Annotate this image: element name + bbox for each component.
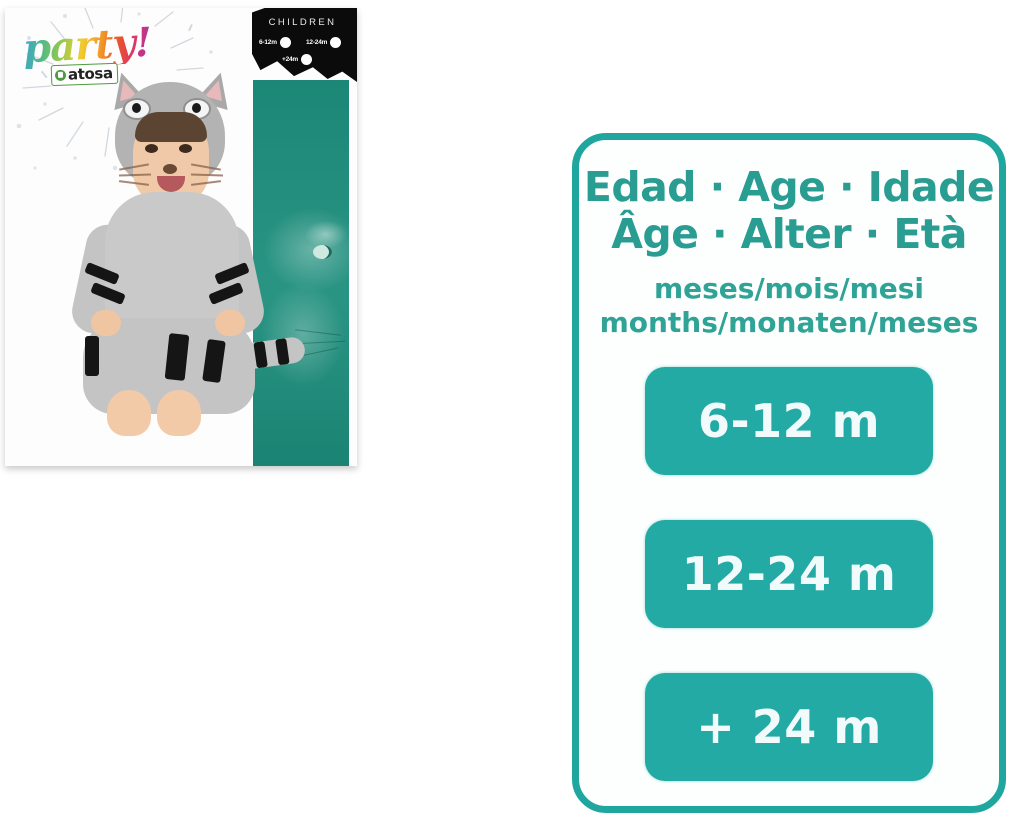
tail-stripe	[275, 338, 290, 365]
costume-stripe	[85, 336, 99, 376]
baby-foot-left	[107, 390, 151, 436]
age-panel-heading-line-1: Edad · Age · Idade	[584, 164, 994, 211]
age-option-list: 6-12 m 12-24 m + 24 m	[579, 367, 999, 781]
baby-eye-left	[145, 144, 158, 153]
age-option-6-12m[interactable]: 6-12 m	[645, 367, 933, 475]
brand-logo-party-text: party!	[22, 23, 152, 70]
badge-size-label: +24m	[282, 56, 298, 63]
badge-size-label: 6-12m	[259, 39, 277, 46]
painted-cat-nose	[163, 164, 177, 174]
baby-hand-right	[215, 310, 245, 336]
badge-size-option-6-12m: 6-12m	[259, 37, 291, 48]
badge-size-label: 12-24m	[306, 39, 327, 46]
age-panel-subheading-line-2: months/monaten/meses	[600, 306, 979, 340]
baby-hair	[135, 112, 207, 142]
badge-size-option-12-24m: 12-24m	[306, 37, 341, 48]
children-badge-title: CHILDREN	[252, 17, 353, 28]
badge-size-dot-icon	[330, 37, 341, 48]
baby-cat-costume-photo	[63, 72, 273, 454]
badge-size-dot-icon	[301, 54, 312, 65]
age-panel-subheading-line-1: meses/mois/mesi	[654, 272, 924, 306]
baby-foot-right	[157, 390, 201, 436]
product-package-image: party! atosa CHILDREN 6-12m 12-24m +24m	[5, 8, 357, 466]
age-size-panel: Edad · Age · Idade Âge · Alter · Età mes…	[572, 133, 1006, 813]
age-panel-heading-line-2: Âge · Alter · Età	[611, 211, 967, 258]
badge-size-dot-icon	[280, 37, 291, 48]
age-option-plus-24m[interactable]: + 24 m	[645, 673, 933, 781]
band-ghost-eye-decoration	[313, 245, 332, 259]
baby-hand-left	[91, 310, 121, 336]
tail-stripe	[253, 341, 268, 368]
badge-size-option-plus-24m: +24m	[282, 54, 312, 65]
band-ghost-whisker	[295, 329, 341, 336]
age-panel-content: Edad · Age · Idade Âge · Alter · Età mes…	[579, 140, 999, 806]
baby-eye-right	[179, 144, 192, 153]
age-option-12-24m[interactable]: 12-24 m	[645, 520, 933, 628]
